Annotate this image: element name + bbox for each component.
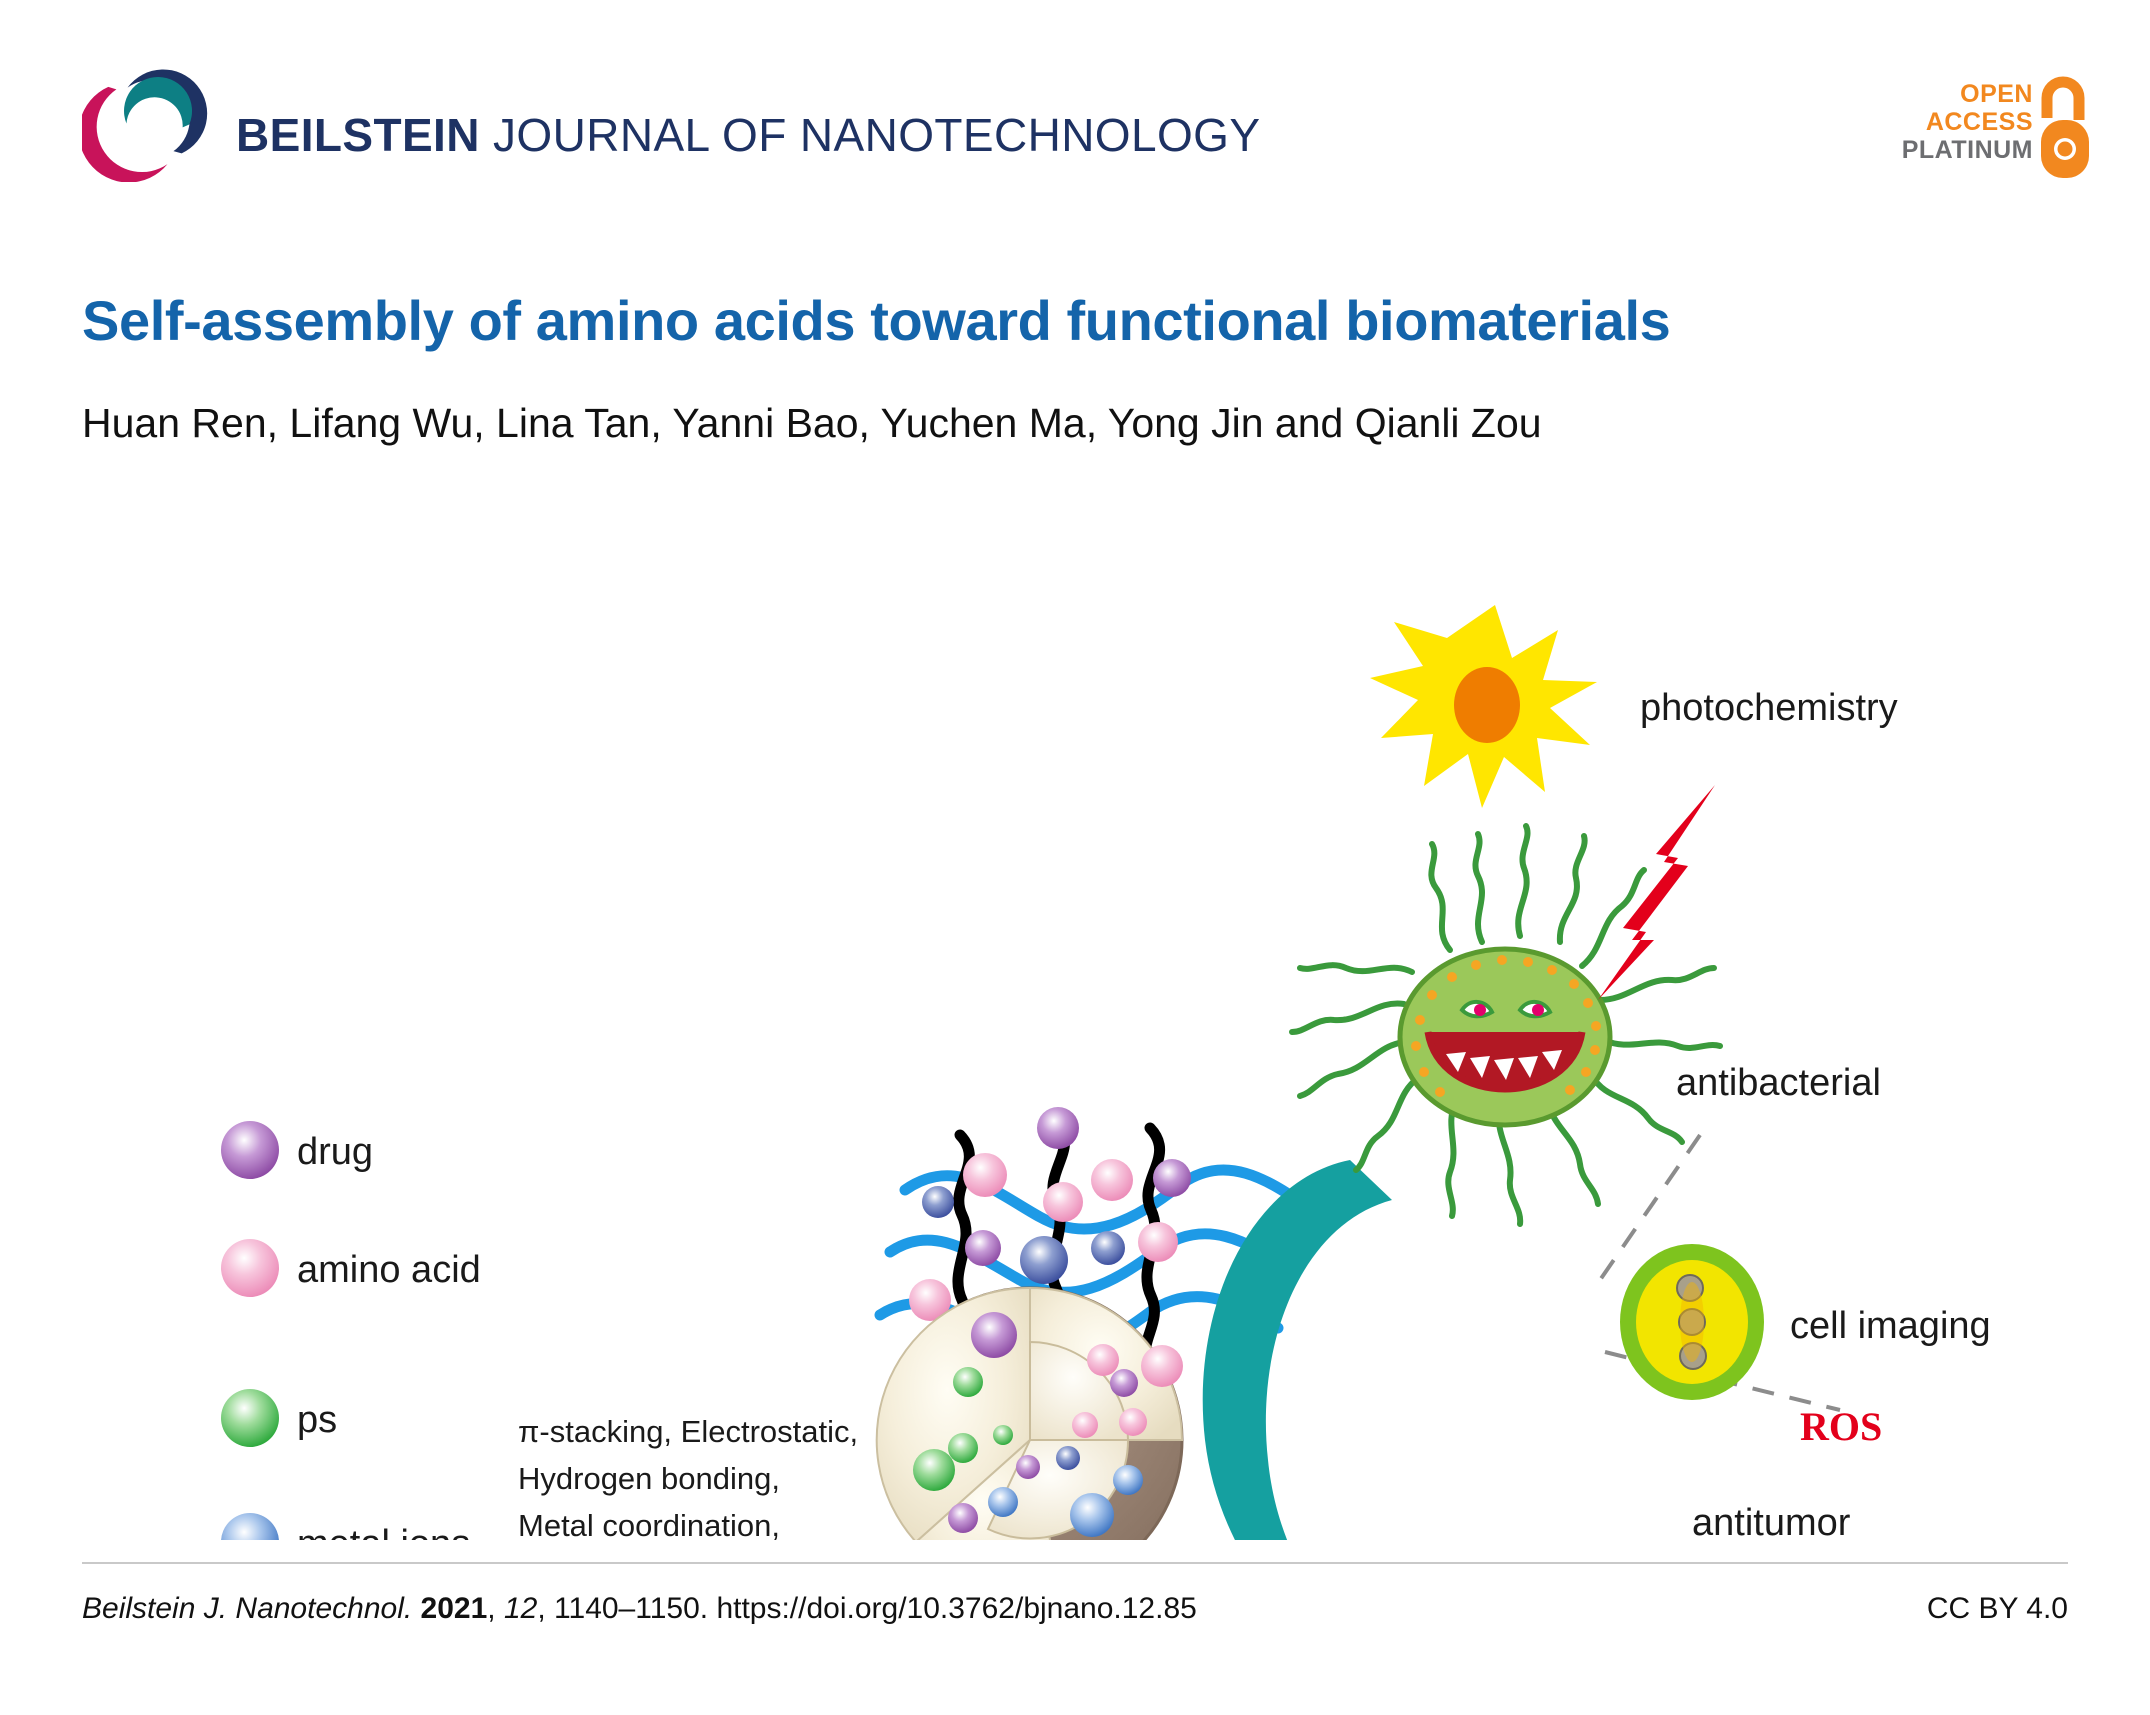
- citation-comma1: ,: [487, 1592, 495, 1625]
- amino-acid-sphere-icon: [221, 1239, 279, 1297]
- ps-sphere-icon: [221, 1389, 279, 1447]
- legend-item-drug: drug: [221, 1121, 373, 1179]
- license-label: CC BY 4.0: [1927, 1592, 2068, 1626]
- photochemistry-illustration: photochemistry: [1370, 605, 1898, 808]
- antibacterial-illustration: antibacterial: [1292, 785, 1881, 1224]
- journal-name-bold: BEILSTEIN: [236, 109, 480, 161]
- bacterium-icon: [1292, 826, 1720, 1224]
- page-title: Self-assembly of amino acids toward func…: [82, 288, 2072, 353]
- citation-doi[interactable]: https://doi.org/10.3762/bjnano.12.85: [716, 1592, 1196, 1625]
- cell-icon: [1620, 1244, 1764, 1400]
- footer-citation: Beilstein J. Nanotechnol. 2021, 12, 1140…: [82, 1592, 1197, 1626]
- open-padlock-icon: [2035, 76, 2095, 189]
- ros-label: ROS: [1800, 1404, 1882, 1449]
- lightning-bolt-icon: [1598, 785, 1715, 1000]
- journal-title: BEILSTEIN JOURNAL OF NANOTECHNOLOGY: [236, 108, 1260, 162]
- journal-name-light: JOURNAL OF NANOTECHNOLOGY: [493, 109, 1260, 161]
- antitumor-label: antitumor: [1692, 1502, 1851, 1540]
- interaction-list: π-stacking, Electrostatic, Hydrogen bond…: [518, 1414, 858, 1540]
- legend-label-amino-acid: amino acid: [297, 1249, 481, 1291]
- sun-icon: [1370, 605, 1597, 808]
- citation-volume: 12: [504, 1592, 537, 1625]
- oa-line-open: OPEN: [1902, 80, 2033, 108]
- citation-pages: 1140–1150.: [554, 1592, 708, 1625]
- legend-item-metal-ions: metal ions: [221, 1513, 470, 1540]
- photochemistry-label: photochemistry: [1640, 687, 1898, 729]
- citation-year: 2021: [421, 1592, 488, 1625]
- citation-journal: Beilstein J. Nanotechnol.: [82, 1592, 412, 1625]
- legend-item-amino-acid: amino acid: [221, 1239, 481, 1297]
- open-access-badge: OPEN ACCESS PLATINUM: [1905, 76, 2095, 186]
- citation-comma2: ,: [537, 1592, 545, 1625]
- application-arrow: [1203, 1160, 1480, 1540]
- cell-imaging-label: cell imaging: [1790, 1305, 1991, 1347]
- legend-label-metal-ions: metal ions: [297, 1523, 470, 1540]
- legend-label-drug: drug: [297, 1131, 373, 1173]
- interaction-line-1: π-stacking, Electrostatic,: [518, 1414, 858, 1449]
- interaction-line-3: Metal coordination,: [518, 1508, 780, 1540]
- antibacterial-label: antibacterial: [1676, 1062, 1881, 1104]
- footer-divider: [82, 1562, 2068, 1564]
- antitumor-illustration: antitumor: [1408, 1502, 1851, 1540]
- drug-sphere-icon: [221, 1121, 279, 1179]
- metal-ions-sphere-icon: [221, 1513, 279, 1540]
- legend-item-ps: ps: [221, 1389, 337, 1447]
- interaction-line-2: Hydrogen bonding,: [518, 1461, 780, 1496]
- page-masthead: BEILSTEIN JOURNAL OF NANOTECHNOLOGY OPEN…: [0, 0, 2150, 230]
- figure-legend: drug amino acid ps metal ions: [221, 1121, 481, 1540]
- author-list: Huan Ren, Lifang Wu, Lina Tan, Yanni Bao…: [82, 400, 2072, 447]
- legend-label-ps: ps: [297, 1399, 337, 1441]
- graphical-abstract-figure: drug amino acid ps metal ions π-stacking…: [0, 480, 2150, 1540]
- cell-imaging-illustration: cell imaging ROS: [1600, 1135, 1991, 1449]
- oa-line-access: ACCESS: [1902, 108, 2033, 136]
- beilstein-spiral-logo: [82, 60, 212, 182]
- oa-line-platinum: PLATINUM: [1902, 136, 2033, 164]
